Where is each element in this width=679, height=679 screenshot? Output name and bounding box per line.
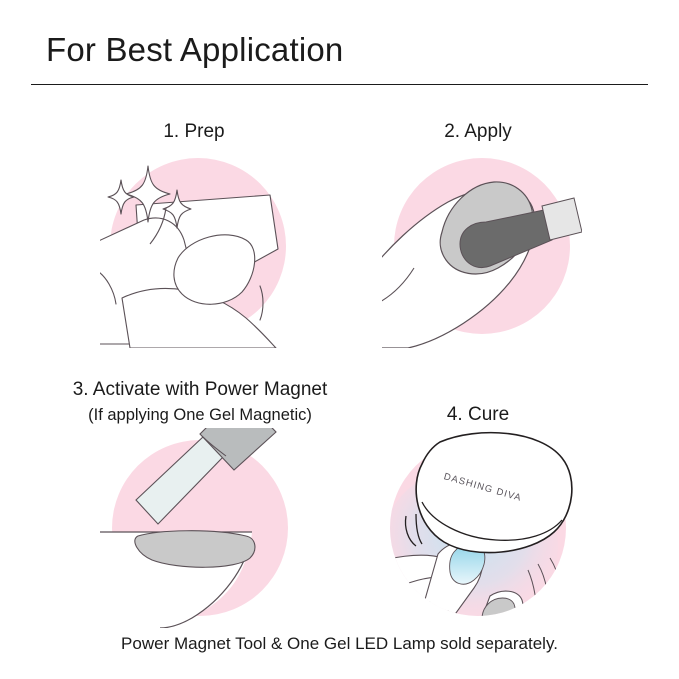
- step-2-illustration: [382, 148, 582, 348]
- step-1-label: 1. Prep: [98, 120, 290, 144]
- footer-note: Power Magnet Tool & One Gel LED Lamp sol…: [0, 634, 679, 654]
- step-2-label: 2. Apply: [382, 120, 574, 144]
- step-3-sub-label: (If applying One Gel Magnetic): [50, 405, 350, 426]
- step-3-label-block: 3. Activate with Power Magnet (If applyi…: [50, 378, 350, 425]
- step-1-illustration: [100, 148, 300, 348]
- title-divider: [31, 84, 648, 85]
- step-3-illustration: [100, 428, 300, 628]
- step-4-label: 4. Cure: [382, 403, 574, 427]
- step-4-illustration: DASHING DIVA: [370, 428, 590, 628]
- step-3-label: 3. Activate with Power Magnet: [73, 379, 328, 400]
- page-title: For Best Application: [46, 31, 344, 69]
- application-instructions-page: For Best Application 1. Prep 2. Apply 3.…: [0, 0, 679, 679]
